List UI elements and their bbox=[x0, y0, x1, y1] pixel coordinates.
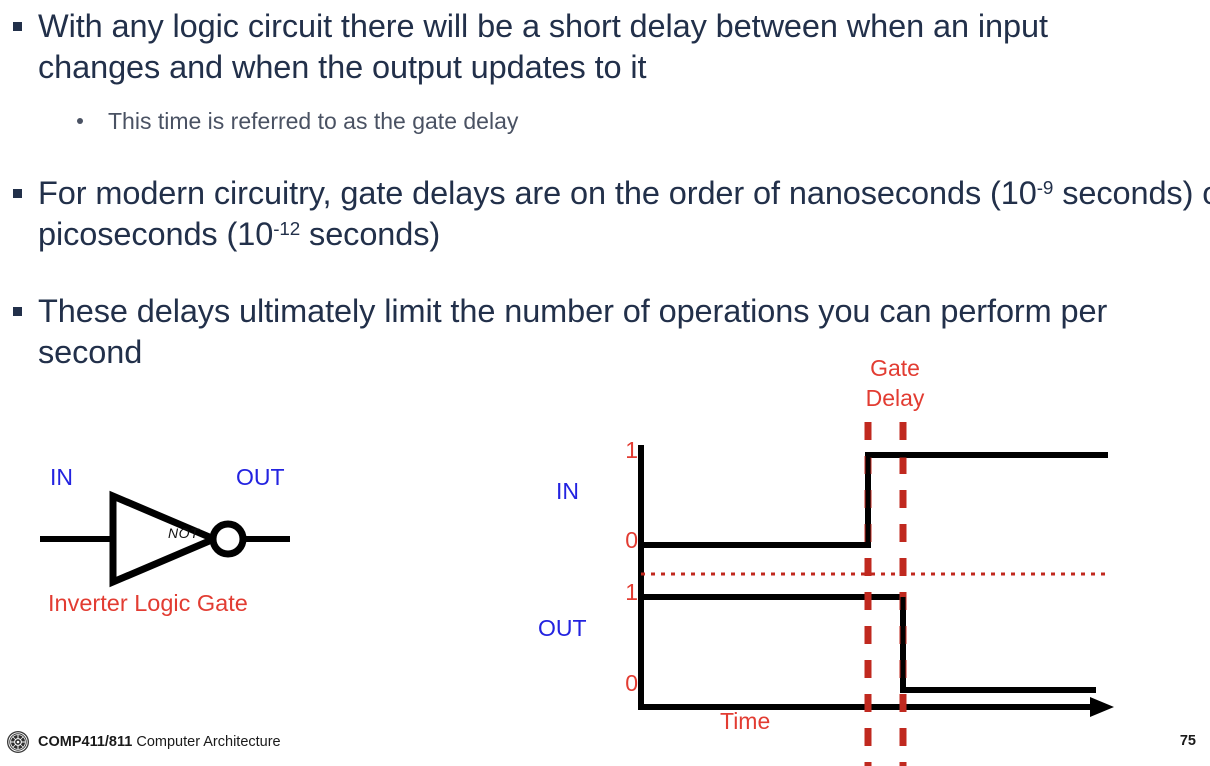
bullet-item-2-text-part1: For modern circuitry, gate delays are on… bbox=[38, 175, 1037, 211]
gate-inversion-bubble bbox=[213, 524, 243, 554]
slide-page-number: 75 bbox=[1180, 733, 1196, 749]
bullet-item-1-text: With any logic circuit there will be a s… bbox=[38, 8, 1048, 85]
timing-diagram: IN OUT Gate Delay Time 1 0 1 0 bbox=[530, 350, 1210, 766]
gate-figure-caption: Inverter Logic Gate bbox=[48, 590, 248, 617]
bullet-item-1-sub: This time is referred to as the gate del… bbox=[0, 106, 1108, 136]
footer-course-info: COMP411/811 Computer Architecture bbox=[38, 734, 281, 750]
bullet-item-1: With any logic circuit there will be a s… bbox=[0, 6, 1148, 88]
exponent-nano: -9 bbox=[1037, 177, 1054, 198]
gate-body-label: NOT bbox=[168, 525, 199, 541]
slide-footer: COMP411/811 Computer Architecture 75 bbox=[0, 724, 1210, 766]
footer-course-title: Computer Architecture bbox=[132, 734, 280, 750]
bullet-dot-marker bbox=[77, 118, 83, 124]
bullet-item-2: For modern circuitry, gate delays are on… bbox=[0, 173, 1210, 255]
bullet-item-2-text-part3: seconds) bbox=[300, 216, 440, 252]
waveform-in bbox=[641, 455, 1108, 545]
bullet-square-marker bbox=[13, 189, 22, 198]
footer-course-code: COMP411/811 bbox=[38, 734, 132, 750]
slide-canvas: With any logic circuit there will be a s… bbox=[0, 0, 1210, 766]
university-seal-icon bbox=[6, 730, 30, 754]
inverter-gate-figure: IN OUT NOT Inverter Logic Gate bbox=[28, 462, 358, 642]
footer-branding: COMP411/811 Computer Architecture bbox=[6, 730, 281, 754]
bullet-item-1-sub-text: This time is referred to as the gate del… bbox=[108, 108, 518, 134]
exponent-pico: -12 bbox=[273, 218, 300, 239]
time-axis-arrowhead bbox=[1090, 697, 1114, 717]
bullet-square-marker bbox=[13, 307, 22, 316]
timing-diagram-plot bbox=[530, 350, 1210, 766]
waveform-out-edge-overlay bbox=[903, 597, 1096, 690]
bullet-square-marker bbox=[13, 22, 22, 31]
